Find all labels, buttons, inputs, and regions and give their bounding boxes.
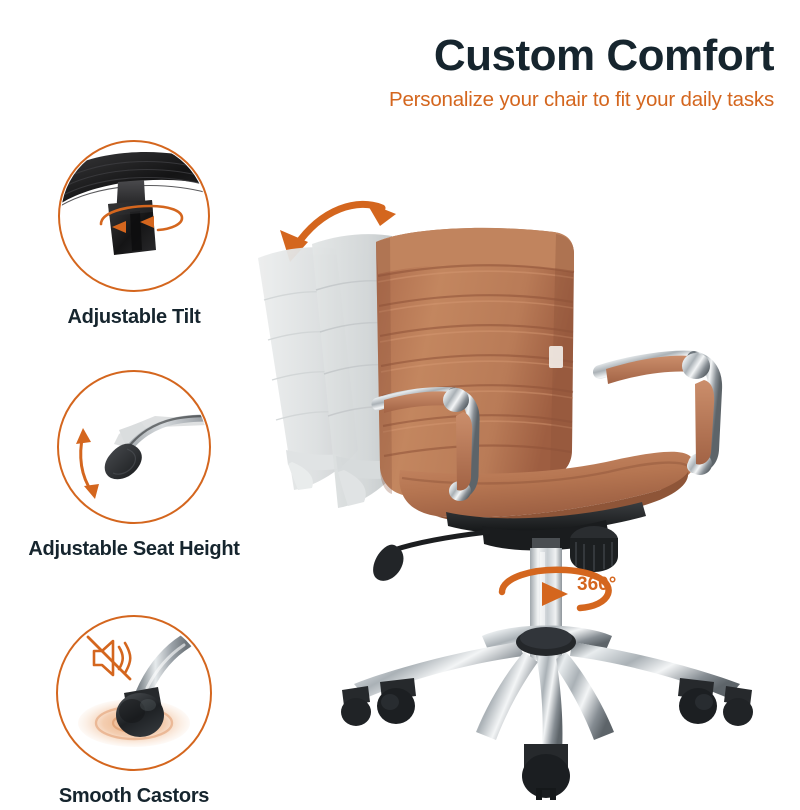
feature-smooth-castors: Smooth Castors bbox=[0, 615, 268, 800]
caster-wheel-icon bbox=[58, 617, 210, 769]
feature-icon-circle bbox=[57, 370, 211, 524]
mute-speaker-icon bbox=[88, 637, 130, 679]
feature-label: Adjustable Seat Height bbox=[0, 537, 268, 563]
header: Custom Comfort Personalize your chair to… bbox=[134, 34, 774, 112]
caster-left-rear bbox=[341, 686, 371, 726]
height-lever-icon bbox=[59, 372, 209, 522]
caster-left-far bbox=[377, 678, 416, 724]
feature-label: Adjustable Tilt bbox=[0, 305, 268, 331]
feature-label: Smooth Castors bbox=[0, 784, 268, 810]
caster-right-far bbox=[678, 678, 717, 724]
page-title: Custom Comfort bbox=[134, 34, 774, 78]
feature-icon-circle bbox=[58, 140, 210, 292]
feature-adjustable-seat-height: Adjustable Seat Height bbox=[0, 370, 268, 615]
tilt-mechanism-icon bbox=[60, 142, 208, 290]
caster-right-rear bbox=[723, 686, 753, 726]
feature-adjustable-tilt: Adjustable Tilt bbox=[0, 140, 268, 370]
feature-list: Adjustable Tilt bbox=[0, 140, 268, 800]
caster-front-center bbox=[522, 744, 570, 800]
feature-icon-circle bbox=[56, 615, 212, 771]
rotation-label: 360° bbox=[577, 574, 616, 596]
page-subtitle: Personalize your chair to fit your daily… bbox=[134, 89, 774, 112]
infographic-canvas: Custom Comfort Personalize your chair to… bbox=[0, 0, 800, 800]
product-image: 360° bbox=[250, 150, 800, 800]
office-chair-illustration bbox=[250, 150, 800, 800]
